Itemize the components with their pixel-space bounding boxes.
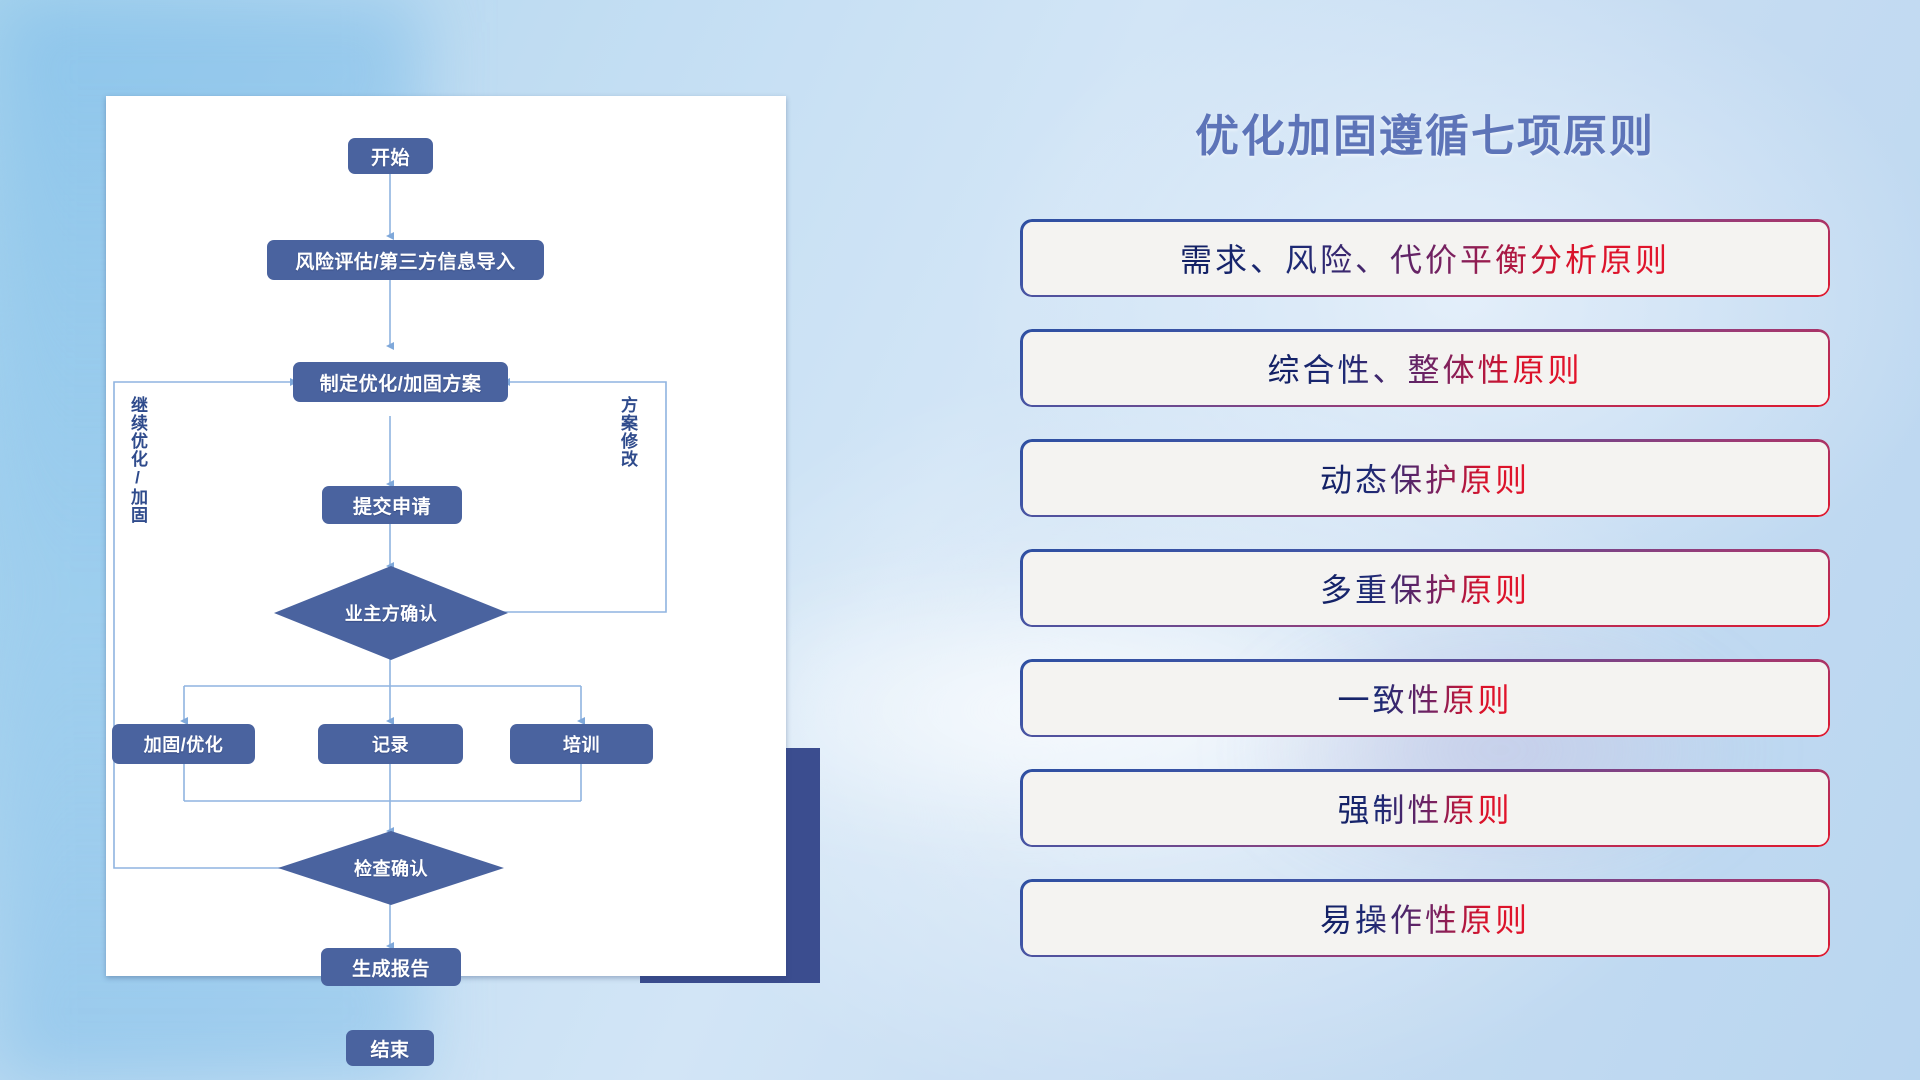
flow-node-label: 开始 bbox=[371, 143, 410, 170]
principle-item-5[interactable]: 一致性原则 bbox=[1020, 659, 1830, 737]
flow-node-record[interactable]: 记录 bbox=[318, 724, 463, 764]
flow-node-label: 生成报告 bbox=[352, 954, 430, 981]
principle-inner: 动态保护原则 bbox=[1023, 442, 1828, 515]
flow-node-label: 制定优化/加固方案 bbox=[320, 369, 482, 396]
flow-node-label: 业主方确认 bbox=[345, 600, 438, 626]
flow-node-label: 结束 bbox=[370, 1035, 409, 1062]
principle-inner: 多重保护原则 bbox=[1023, 552, 1828, 625]
flow-node-training[interactable]: 培训 bbox=[510, 724, 653, 764]
flow-node-label: 提交申请 bbox=[353, 492, 431, 519]
flowchart-stage: 开始 风险评估/第三方信息导入 制定优化/加固方案 提交申请 业主方确认 加固/… bbox=[106, 96, 786, 976]
flow-node-report[interactable]: 生成报告 bbox=[321, 948, 461, 986]
principle-item-6[interactable]: 强制性原则 bbox=[1020, 769, 1830, 847]
flow-node-owner-confirm[interactable]: 业主方确认 bbox=[274, 566, 508, 660]
flow-node-label: 加固/优化 bbox=[144, 731, 224, 757]
principle-inner: 综合性、整体性原则 bbox=[1023, 332, 1828, 405]
principle-label: 强制性原则 bbox=[1337, 785, 1512, 831]
principle-list: 需求、风险、代价平衡分析原则 综合性、整体性原则 动态保护原则 多重保护原则 bbox=[1020, 219, 1830, 989]
flow-node-risk-assessment[interactable]: 风险评估/第三方信息导入 bbox=[267, 240, 544, 280]
principle-label: 多重保护原则 bbox=[1320, 565, 1530, 611]
edge-label-continue-optimize: 继续优化/加固 bbox=[128, 396, 146, 576]
edge-label-plan-revision: 方案修改 bbox=[618, 396, 636, 536]
flow-node-end[interactable]: 结束 bbox=[346, 1030, 434, 1066]
principle-inner: 需求、风险、代价平衡分析原则 bbox=[1023, 222, 1828, 295]
principle-label: 综合性、整体性原则 bbox=[1267, 345, 1582, 391]
principle-item-2[interactable]: 综合性、整体性原则 bbox=[1020, 329, 1830, 407]
flow-node-label: 检查确认 bbox=[354, 855, 428, 881]
principles-panel: 优化加固遵循七项原则 需求、风险、代价平衡分析原则 综合性、整体性原则 动态保护… bbox=[1020, 96, 1830, 1006]
principle-item-4[interactable]: 多重保护原则 bbox=[1020, 549, 1830, 627]
flow-node-submit[interactable]: 提交申请 bbox=[322, 486, 462, 524]
flow-node-plan[interactable]: 制定优化/加固方案 bbox=[293, 362, 508, 402]
principle-inner: 易操作性原则 bbox=[1023, 882, 1828, 955]
principle-label: 动态保护原则 bbox=[1320, 455, 1530, 501]
flow-node-start[interactable]: 开始 bbox=[348, 138, 433, 174]
flowchart-card: 开始 风险评估/第三方信息导入 制定优化/加固方案 提交申请 业主方确认 加固/… bbox=[106, 96, 786, 976]
principle-item-7[interactable]: 易操作性原则 bbox=[1020, 879, 1830, 957]
flow-node-reinforce[interactable]: 加固/优化 bbox=[112, 724, 255, 764]
principle-label: 易操作性原则 bbox=[1320, 895, 1530, 941]
panel-title: 优化加固遵循七项原则 bbox=[1020, 100, 1830, 164]
principle-item-1[interactable]: 需求、风险、代价平衡分析原则 bbox=[1020, 219, 1830, 297]
principle-label: 需求、风险、代价平衡分析原则 bbox=[1180, 235, 1670, 281]
flow-node-label: 培训 bbox=[563, 731, 600, 757]
principle-label: 一致性原则 bbox=[1337, 675, 1512, 721]
slide-canvas: 开始 风险评估/第三方信息导入 制定优化/加固方案 提交申请 业主方确认 加固/… bbox=[0, 0, 1920, 1080]
flow-node-label: 风险评估/第三方信息导入 bbox=[295, 247, 515, 274]
principle-item-3[interactable]: 动态保护原则 bbox=[1020, 439, 1830, 517]
principle-inner: 一致性原则 bbox=[1023, 662, 1828, 735]
principle-inner: 强制性原则 bbox=[1023, 772, 1828, 845]
flow-node-check-confirm[interactable]: 检查确认 bbox=[278, 831, 504, 905]
flow-node-label: 记录 bbox=[372, 731, 409, 757]
